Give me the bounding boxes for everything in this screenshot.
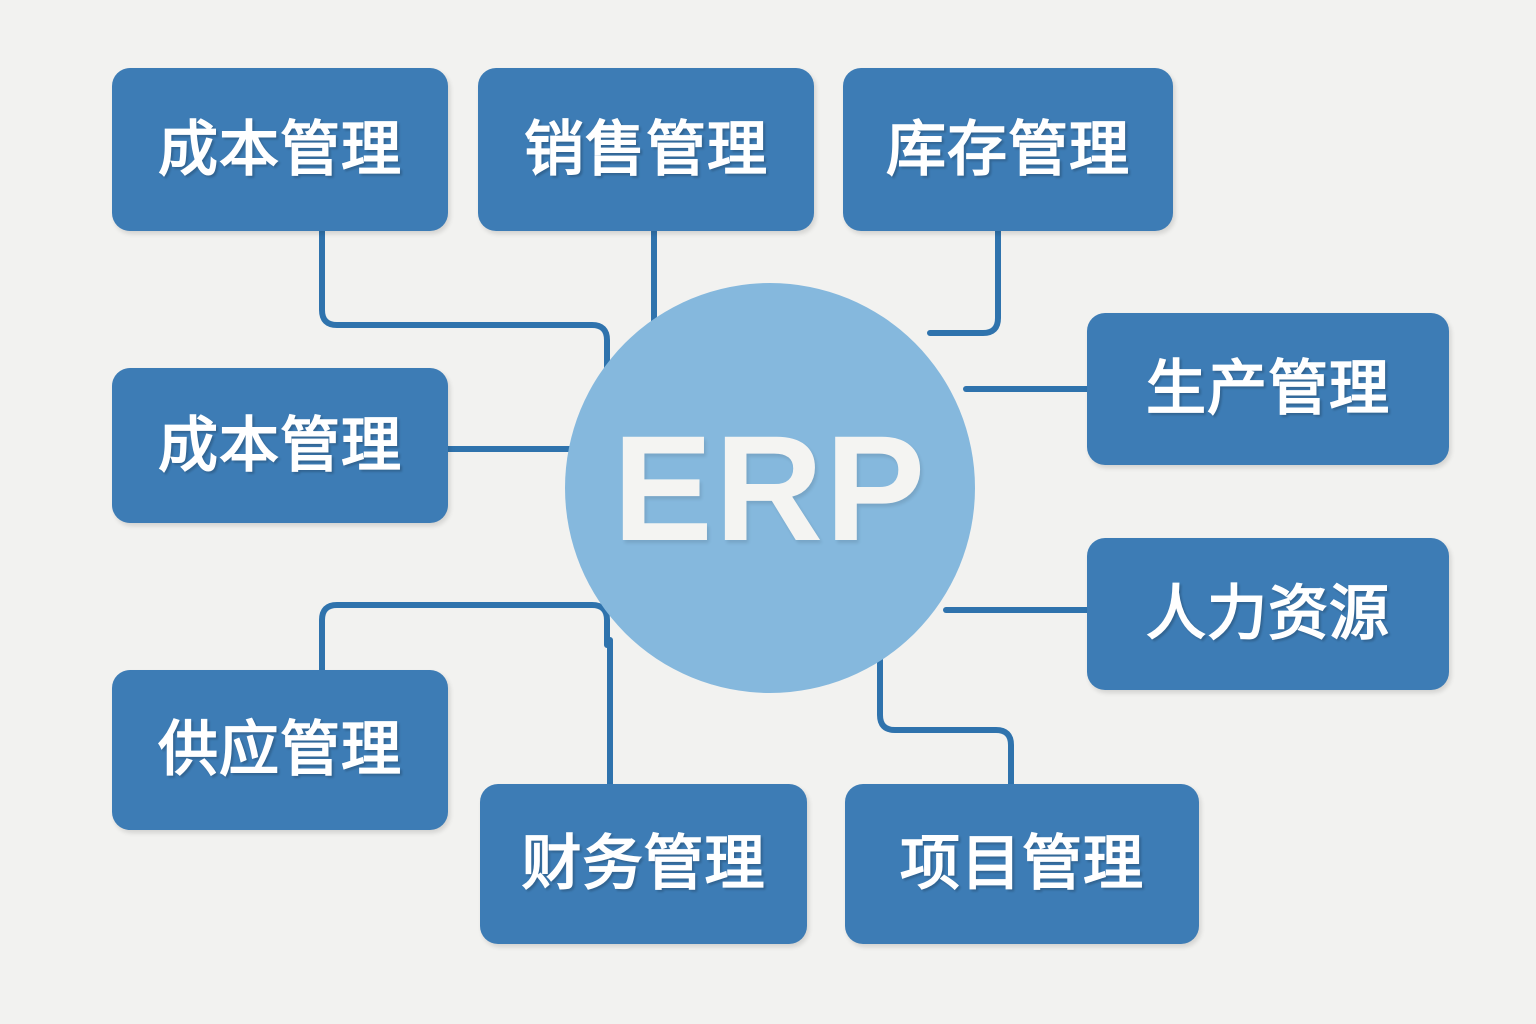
node-project-management[interactable]: 项目管理	[845, 784, 1199, 944]
node-sales-management[interactable]: 销售管理	[478, 68, 814, 231]
node-label: 项目管理	[900, 834, 1144, 894]
node-inventory-management[interactable]: 库存管理	[843, 68, 1173, 231]
node-cost-management-left[interactable]: 成本管理	[112, 368, 448, 523]
node-cost-management-top[interactable]: 成本管理	[112, 68, 448, 231]
node-supply-management[interactable]: 供应管理	[112, 670, 448, 830]
node-label: 销售管理	[524, 120, 768, 180]
hub-erp-circle[interactable]: ERP	[565, 283, 975, 693]
node-label: 财务管理	[522, 834, 766, 894]
connector-cost-management-top	[322, 231, 607, 372]
connector-inventory-management	[930, 231, 998, 333]
erp-diagram-canvas: 成本管理 销售管理 库存管理 成本管理 生产管理 人力资源 供应管理 财务管理 …	[0, 0, 1536, 1024]
node-production-management[interactable]: 生产管理	[1087, 313, 1449, 465]
node-label: 人力资源	[1146, 584, 1390, 644]
node-label: 成本管理	[158, 120, 402, 180]
node-finance-management[interactable]: 财务管理	[480, 784, 807, 944]
node-human-resources[interactable]: 人力资源	[1087, 538, 1449, 690]
node-label: 库存管理	[886, 120, 1130, 180]
connector-supply-management	[322, 605, 607, 670]
node-label: 成本管理	[158, 416, 402, 476]
hub-label: ERP	[613, 413, 927, 563]
connector-project-management	[880, 655, 1011, 784]
node-label: 供应管理	[158, 720, 402, 780]
node-label: 生产管理	[1146, 359, 1390, 419]
